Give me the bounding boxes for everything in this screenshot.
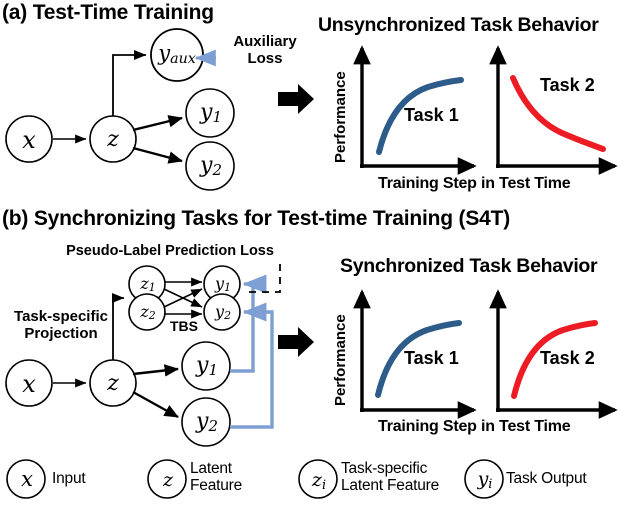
chart-a-yaxis-label: Performance — [332, 71, 349, 163]
chart-b-task1-tag: Task 1 — [404, 348, 459, 369]
panel-a-chart-task2 — [496, 48, 615, 168]
node-x-b — [6, 360, 52, 406]
legend-node-x — [7, 460, 45, 498]
panel-b-title: (b) Synchronizing Tasks for Test-time Tr… — [2, 207, 510, 231]
panel-b-diagram-graph — [6, 258, 280, 446]
panel-a-diagram-graph — [6, 29, 234, 190]
node-z2-b — [129, 294, 165, 330]
node-y2-b — [182, 398, 230, 446]
transition-arrow-a — [278, 84, 314, 114]
node-y2-top-b — [204, 294, 240, 330]
node-x-a — [6, 116, 52, 162]
node-z-b — [90, 360, 136, 406]
task-specific-projection-label: Task-specific Projection — [6, 308, 116, 343]
legend-label-latent-feature: Latent Feature — [190, 460, 290, 495]
edge-z-to-y2-b — [133, 392, 178, 417]
pseudo-label-prediction-loss-label: Pseudo-Label Prediction Loss — [55, 243, 285, 260]
edge-z-to-y1-b — [133, 369, 178, 374]
legend-node-zi — [299, 460, 337, 498]
tbs-label: TBS — [164, 318, 204, 334]
chart-heading-synchronized: Synchronized Task Behavior — [340, 255, 597, 278]
chart-b-yaxis-label: Performance — [332, 314, 349, 406]
legend-label-task-specific-latent-feature: Task-specific Latent Feature — [341, 460, 491, 495]
legend-label-task-output: Task Output — [506, 470, 622, 487]
node-y1-b — [182, 342, 230, 390]
chart-a-task2-tag: Task 2 — [540, 75, 595, 96]
legend-node-z — [148, 460, 186, 498]
figure-root: (a) Test-Time Training (b) Synchronizing… — [0, 0, 622, 508]
node-y1-a — [186, 89, 234, 137]
transition-arrow-b — [278, 327, 314, 357]
edge-z-to-y1-a — [133, 118, 182, 130]
edge-z-to-y2-a — [133, 148, 182, 161]
chart-a-task1-tag: Task 1 — [404, 105, 459, 126]
node-y2-a — [186, 142, 234, 190]
panel-a-title: (a) Test-Time Training — [2, 1, 214, 25]
node-y-aux-a — [151, 29, 203, 81]
chart-b-xaxis-label: Training Step in Test Time — [378, 418, 570, 436]
chart-b-task2-tag: Task 2 — [540, 348, 595, 369]
edge-z-to-yaux-a — [113, 55, 146, 116]
node-z-a — [90, 116, 136, 162]
auxiliary-loss-label: Auxiliary Loss — [220, 33, 310, 68]
chart-a-xaxis-label: Training Step in Test Time — [378, 175, 570, 193]
legend-label-input: Input — [52, 470, 142, 487]
chart-heading-unsynchronized: Unsynchronized Task Behavior — [318, 14, 599, 37]
